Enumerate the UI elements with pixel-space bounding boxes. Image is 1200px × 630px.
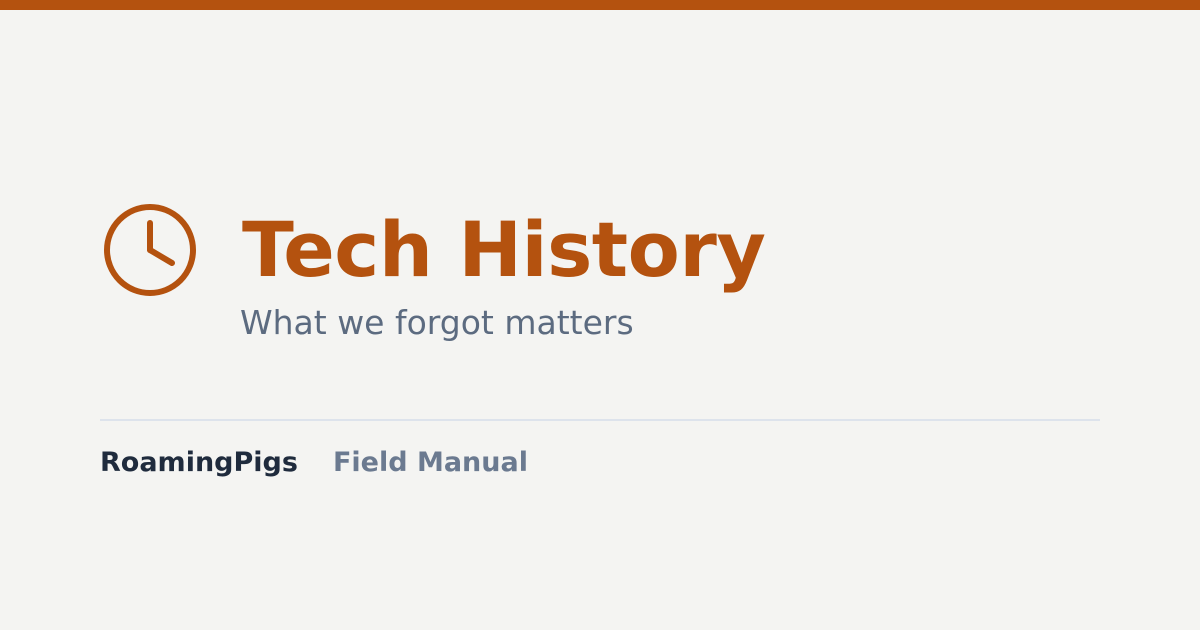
brand-row: Tech History: [100, 196, 1100, 304]
page-title: Tech History: [242, 212, 765, 288]
section-label: Field Manual: [333, 449, 528, 476]
share-card: Tech History What we forgot matters Roam…: [0, 0, 1200, 630]
footer-meta: RoamingPigs Field Manual: [100, 449, 528, 476]
clock-minute-hand: [150, 250, 172, 263]
clock-icon: [102, 202, 198, 298]
top-accent-bar: [0, 0, 1200, 10]
card-content: Tech History What we forgot matters: [100, 196, 1100, 304]
divider: [100, 419, 1100, 421]
author-name: RoamingPigs: [100, 449, 298, 476]
page-subtitle: What we forgot matters: [240, 306, 634, 339]
